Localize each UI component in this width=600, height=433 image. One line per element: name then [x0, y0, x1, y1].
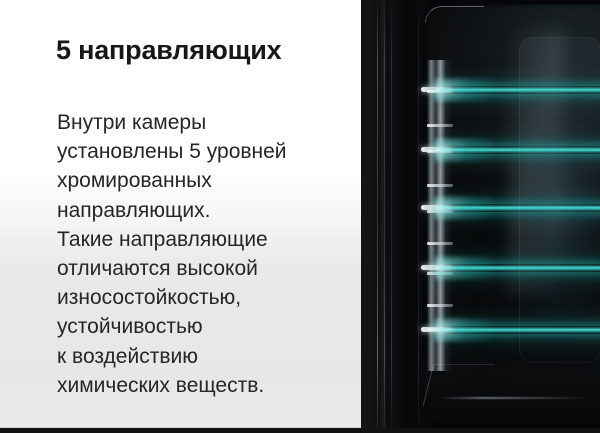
body-line: к воздействию — [57, 342, 357, 371]
body-line: износостойкостью, — [57, 283, 357, 312]
ladder-notch — [427, 184, 453, 187]
promo-slide: 5 направляющих Внутри камеры установлены… — [0, 0, 600, 433]
page-title: 5 направляющих — [56, 34, 346, 66]
guide-rail-level-4 — [435, 146, 600, 154]
floor-reflection — [423, 364, 494, 413]
body-line: хромированных — [57, 166, 357, 195]
body-line: направляющих. — [57, 196, 357, 225]
body-line: Внутри камеры — [57, 108, 357, 137]
cavity-top-glint — [425, 6, 484, 23]
body-line: устойчивостью — [57, 312, 357, 341]
door-seam — [418, 0, 419, 433]
guide-rail-level-5 — [435, 86, 600, 94]
guide-rail-level-3 — [435, 204, 600, 212]
guide-rail-level-2 — [435, 264, 600, 272]
ladder-notch — [427, 242, 453, 245]
bottom-rule — [0, 428, 600, 433]
door-seam — [384, 0, 385, 433]
body-line: Такие направляющие — [57, 225, 357, 254]
door-seam — [377, 0, 378, 433]
cavity-sheen — [508, 29, 564, 296]
body-line: установлены 5 уровней — [57, 137, 357, 166]
body-copy: Внутри камеры установлены 5 уровней хром… — [57, 108, 357, 400]
oven-photo — [361, 0, 600, 433]
ladder-notch — [427, 124, 453, 127]
text-panel: 5 направляющих Внутри камеры установлены… — [0, 0, 361, 433]
body-line: отличаются высокой — [57, 254, 357, 283]
guide-rail-level-1 — [435, 326, 600, 334]
door-seam — [391, 0, 392, 433]
ladder-notch — [427, 304, 453, 307]
body-line: химических веществ. — [57, 371, 357, 400]
